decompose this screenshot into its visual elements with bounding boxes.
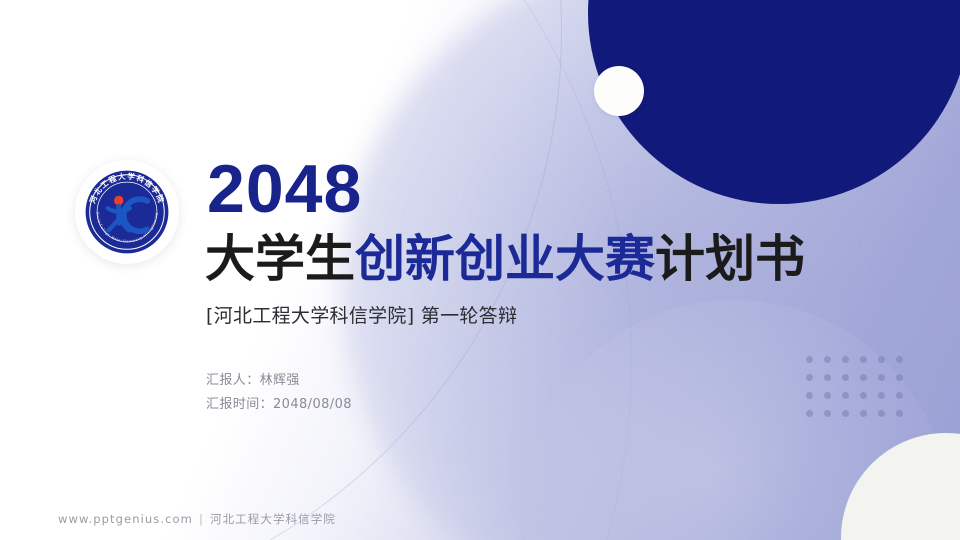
title-segment-1: 大学生: [205, 230, 355, 288]
title-segment-3: 计划书: [655, 230, 805, 288]
footer-organization: 河北工程大学科信学院: [210, 512, 336, 526]
slide-footer: www.pptgenius.com|河北工程大学科信学院: [58, 511, 336, 527]
university-logo: 河北工程大学科信学院 Kexin College, Hebei Universi…: [75, 160, 179, 264]
dot-grid-pattern: [806, 356, 914, 428]
white-accent-circle: [594, 66, 644, 116]
slide-meta-block: 汇报人：林辉强 汇报时间：2048/08/08: [206, 369, 352, 417]
presenter-line: 汇报人：林辉强: [206, 369, 352, 393]
title-segment-2-accent: 创新创业大赛: [355, 230, 655, 288]
presentation-slide: 河北工程大学科信学院 Kexin College, Hebei Universi…: [0, 0, 960, 540]
date-line: 汇报时间：2048/08/08: [206, 393, 352, 417]
footer-site: www.pptgenius.com: [58, 512, 193, 526]
slide-main-title: 大学生创新创业大赛计划书: [205, 232, 805, 286]
slide-year: 2048: [207, 155, 362, 223]
footer-separator: |: [193, 512, 210, 526]
slide-subtitle: [河北工程大学科信学院] 第一轮答辩: [206, 301, 517, 328]
university-emblem-icon: 河北工程大学科信学院 Kexin College, Hebei Universi…: [81, 166, 173, 258]
